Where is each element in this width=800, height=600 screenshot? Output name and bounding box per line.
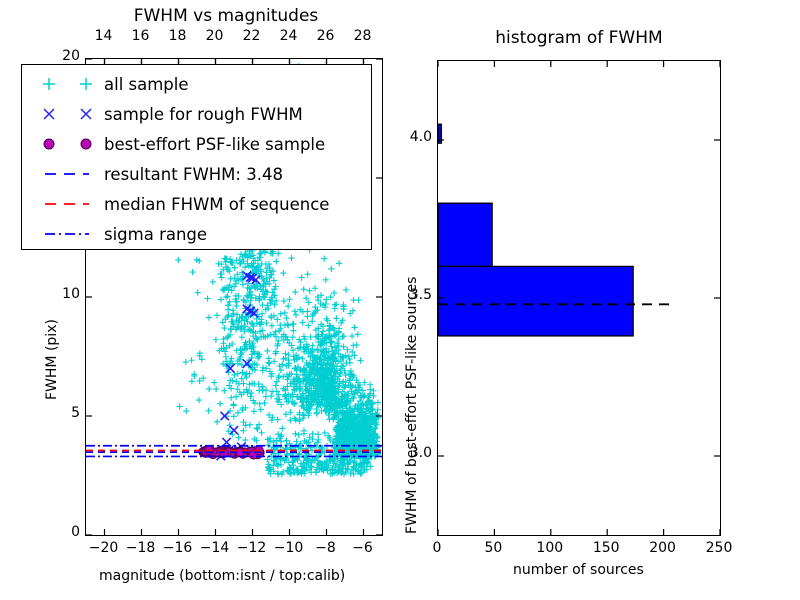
legend-item: sigma range xyxy=(30,219,363,249)
top-axis-tick-label: 22 xyxy=(241,28,263,44)
legend-dashdot-line xyxy=(30,227,104,241)
left-panel-title: FWHM vs magnitudes xyxy=(66,6,386,26)
top-axis-tick-label: 26 xyxy=(315,28,337,44)
left-x-tick-label: −12 xyxy=(234,540,270,556)
legend-item: sample for rough FWHM xyxy=(30,99,363,129)
left-x-tick-label: −8 xyxy=(308,540,344,556)
right-x-tick-label: 100 xyxy=(530,540,570,556)
top-axis-tick-label: 28 xyxy=(352,28,374,44)
left-x-tick-label: −16 xyxy=(160,540,196,556)
left-y-tick-label: 5 xyxy=(52,405,80,421)
top-axis-tick-label: 18 xyxy=(167,28,189,44)
legend-item-label: resultant FWHM: 3.48 xyxy=(104,165,283,184)
top-axis-tick-label: 14 xyxy=(93,28,115,44)
legend-dashed-line xyxy=(30,197,104,211)
legend-plus-marker xyxy=(30,77,104,91)
right-x-tick-label: 150 xyxy=(586,540,626,556)
right-x-tick-label: 0 xyxy=(417,540,457,556)
legend-circle-marker xyxy=(30,137,104,151)
right-x-tick-label: 50 xyxy=(473,540,513,556)
left-x-tick-label: −18 xyxy=(123,540,159,556)
legend: all samplesample for rough FWHMbest-effo… xyxy=(21,64,372,250)
legend-item-label: best-effort PSF-like sample xyxy=(104,135,325,154)
legend-dashed-line xyxy=(30,167,104,181)
left-x-tick-label: −14 xyxy=(197,540,233,556)
right-panel-y-axis-label: FWHM of best-effort PSF-like sources xyxy=(404,277,420,534)
left-x-tick-label: −20 xyxy=(86,540,122,556)
left-y-tick-label: 0 xyxy=(52,524,80,540)
left-x-tick-label: −10 xyxy=(271,540,307,556)
right-x-tick-label: 250 xyxy=(699,540,739,556)
left-y-tick-label: 20 xyxy=(52,48,80,64)
left-x-tick-label: −6 xyxy=(345,540,381,556)
legend-item-label: median FHWM of sequence xyxy=(104,195,329,214)
legend-item: all sample xyxy=(30,69,363,99)
right-panel-tick-marks xyxy=(437,60,721,536)
left-y-tick-label: 10 xyxy=(52,286,80,302)
left-panel-y-axis-label: FWHM (pix) xyxy=(44,319,60,400)
right-x-tick-label: 200 xyxy=(643,540,683,556)
right-panel-x-axis-label: number of sources xyxy=(513,562,644,578)
top-axis-tick-label: 20 xyxy=(204,28,226,44)
legend-cross-marker xyxy=(30,107,104,121)
right-y-tick-label: 4.0 xyxy=(398,129,432,145)
legend-item-label: all sample xyxy=(104,75,189,94)
legend-item: median FHWM of sequence xyxy=(30,189,363,219)
right-panel-title: histogram of FWHM xyxy=(437,28,721,48)
top-axis-tick-label: 24 xyxy=(278,28,300,44)
legend-item: resultant FWHM: 3.48 xyxy=(30,159,363,189)
left-panel-x-axis-label: magnitude (bottom:isnt / top:calib) xyxy=(99,568,345,584)
legend-item-label: sigma range xyxy=(104,225,207,244)
top-axis-tick-label: 16 xyxy=(130,28,152,44)
legend-item: best-effort PSF-like sample xyxy=(30,129,363,159)
legend-item-label: sample for rough FWHM xyxy=(104,105,303,124)
figure-canvas: FWHM vs magnitudes 1416182022242628 0510… xyxy=(0,0,800,600)
